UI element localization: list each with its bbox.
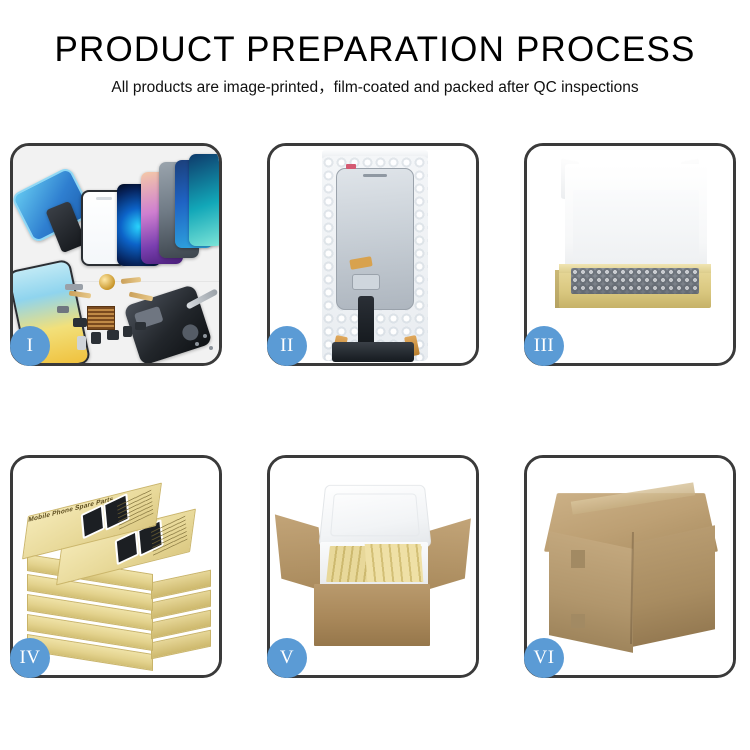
carton-right-face-icon (633, 525, 715, 646)
step-badge-5: V (267, 638, 307, 678)
chip-grid-icon (87, 306, 115, 330)
screw-icon (209, 346, 213, 350)
step-panel-4[interactable]: Mobile Phone Spare Parts Mobile Phone Sp… (10, 455, 222, 678)
spare-part-icon (107, 330, 119, 340)
spare-part-icon (123, 326, 132, 337)
bubble-wrap-contents-icon (571, 268, 699, 294)
step-panel-1[interactable]: I (10, 143, 222, 366)
foam-inner-icon (573, 190, 699, 268)
carton-seam-icon (571, 614, 585, 628)
step-badge-6: VI (524, 638, 564, 678)
carton-seam-icon (571, 550, 585, 568)
spare-part-icon (57, 306, 69, 313)
step-panel-6[interactable]: VI (524, 455, 736, 678)
sealed-shipping-carton-photo (527, 458, 733, 675)
carton-body-icon (314, 584, 430, 646)
spare-part-icon (65, 284, 83, 290)
step-badge-3: III (524, 326, 564, 366)
lcd-connector-icon (352, 274, 380, 290)
bubble-wrapped-lcd-photo (270, 146, 476, 363)
teal-wave-phone-icon (189, 154, 219, 246)
screw-icon (195, 342, 199, 346)
page-header: PRODUCT PREPARATION PROCESS All products… (0, 0, 750, 98)
lcd-footer-board-icon (332, 342, 414, 362)
screw-icon (203, 334, 207, 338)
spare-part-icon (135, 322, 146, 330)
process-steps-grid: I II III (10, 143, 740, 678)
styrofoam-lid-icon (318, 485, 431, 547)
step-panel-2[interactable]: II (267, 143, 479, 366)
stacked-retail-boxes-photo: Mobile Phone Spare Parts Mobile Phone Sp… (13, 458, 219, 675)
spare-part-icon (73, 318, 87, 327)
gold-coil-icon (99, 274, 115, 290)
step-badge-2: II (267, 326, 307, 366)
step-badge-4: IV (10, 638, 50, 678)
spare-part-icon (91, 332, 101, 344)
open-inner-box-photo (527, 146, 733, 363)
page-subtitle: All products are image-printed，film-coat… (0, 78, 750, 98)
spare-part-icon (77, 336, 86, 350)
step-panel-3[interactable]: III (524, 143, 736, 366)
lcd-sticker-icon (346, 164, 356, 169)
step-badge-1: I (10, 326, 50, 366)
packed-boxes-icon (365, 544, 424, 582)
carton-flap-icon (275, 514, 325, 591)
flex-cable-icon (121, 277, 141, 284)
step-panel-5[interactable]: V (267, 455, 479, 678)
carton-with-foam-photo (270, 458, 476, 675)
carton-left-face-icon (549, 531, 633, 653)
product-assortment-photo (13, 146, 219, 363)
page-title: PRODUCT PREPARATION PROCESS (0, 30, 750, 70)
